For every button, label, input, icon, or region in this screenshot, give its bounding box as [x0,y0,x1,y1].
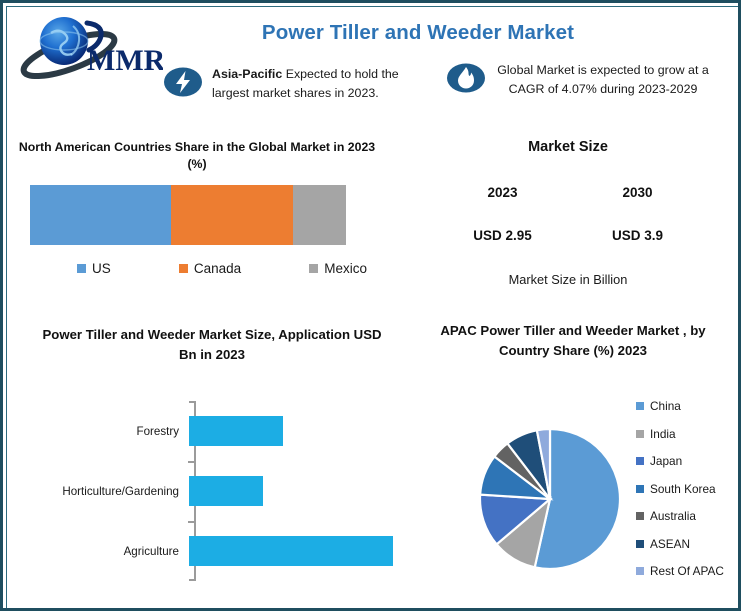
pie-legend-swatch-asean [636,540,644,548]
pie-legend-swatch-rest-of-apac [636,567,644,575]
stacked-segment-canada [171,185,293,245]
pie-legend-item-south-korea: South Korea [636,482,740,496]
pie-legend-item-rest-of-apac: Rest Of APAC [636,564,740,578]
fact-apac-lead: Asia-Pacific [212,67,282,81]
north-america-chart: North American Countries Share in the Gl… [17,139,377,294]
apac-pie-legend: ChinaIndiaJapanSouth KoreaAustraliaASEAN… [636,399,740,592]
axis-tick-1 [188,461,195,463]
pie-legend-label-asean: ASEAN [650,537,690,551]
market-size-panel: Market Size 2023 USD 2.95 2030 USD 3.9 M… [403,139,733,299]
pie-legend-label-japan: Japan [650,454,682,468]
fact-asia-pacific-text: Asia-Pacific Expected to hold the larges… [212,65,403,102]
fact-cagr-text: Global Market is expected to grow at a C… [495,61,711,98]
legend-item-canada: Canada [179,261,241,276]
market-size-value-2023: USD 2.95 [435,228,570,243]
mmr-logo-text: MMR [87,44,163,77]
pie-legend-item-asean: ASEAN [636,537,740,551]
market-size-year-2030: 2030 [570,185,705,200]
mmr-logo: MMR [17,13,163,79]
bar-label-forestry: Forestry [17,425,189,438]
pie-legend-swatch-south-korea [636,485,644,493]
market-size-column-2030: 2030 USD 3.9 [570,185,705,243]
pie-legend-label-rest-of-apac: Rest Of APAC [650,564,724,578]
legend-swatch-canada [179,264,188,273]
bar-row-horticulture: Horticulture/Gardening [17,471,407,511]
pie-legend-item-australia: Australia [636,509,740,523]
market-size-value-2030: USD 3.9 [570,228,705,243]
apac-pie-title: APAC Power Tiller and Weeder Market , by… [408,321,738,362]
legend-swatch-us [77,264,86,273]
pie-graphic [478,421,628,576]
market-size-footnote: Market Size in Billion [403,272,733,287]
legend-item-us: US [77,261,111,276]
legend-label-canada: Canada [194,261,241,276]
fact-asia-pacific: Asia-Pacific Expected to hold the larges… [163,65,403,102]
pie-svg [478,421,628,576]
pie-legend-swatch-japan [636,457,644,465]
bar-row-agriculture: Agriculture [17,531,407,571]
pie-legend-swatch-australia [636,512,644,520]
bar-horticulture [189,476,263,506]
application-plot-area: Forestry Horticulture/Gardening Agricult… [17,399,407,589]
pie-legend-label-india: India [650,427,676,441]
page-title: Power Tiller and Weeder Market [203,21,633,45]
legend-swatch-mexico [309,264,318,273]
pie-legend-label-china: China [650,399,681,413]
pie-legend-label-australia: Australia [650,509,696,523]
pie-legend-item-india: India [636,427,740,441]
application-bar-chart: Power Tiller and Weeder Market Size, App… [17,325,407,600]
north-america-chart-title: North American Countries Share in the Gl… [17,139,377,173]
application-chart-title: Power Tiller and Weeder Market Size, App… [17,325,407,366]
pie-legend-swatch-china [636,402,644,410]
apac-pie-chart: APAC Power Tiller and Weeder Market , by… [408,321,738,601]
infographic-root: MMR Power Tiller and Weeder Market Asia-… [0,0,741,611]
lightning-bolt-icon [163,66,203,98]
fact-cagr: Global Market is expected to grow at a C… [446,61,711,98]
pie-legend-item-japan: Japan [636,454,740,468]
flame-icon [446,62,486,94]
legend-item-mexico: Mexico [309,261,367,276]
market-size-heading: Market Size [403,139,733,155]
legend-label-mexico: Mexico [324,261,367,276]
bar-label-agriculture: Agriculture [17,545,189,558]
legend-label-us: US [92,261,111,276]
axis-tick-2 [188,521,195,523]
market-size-year-2023: 2023 [435,185,570,200]
bar-agriculture [189,536,393,566]
bar-forestry [189,416,283,446]
pie-legend-item-china: China [636,399,740,413]
market-size-column-2023: 2023 USD 2.95 [435,185,570,243]
axis-cap-top [189,401,196,403]
pie-legend-label-south-korea: South Korea [650,482,716,496]
stacked-bar [30,185,346,245]
market-size-columns: 2023 USD 2.95 2030 USD 3.9 [435,185,705,243]
stacked-segment-us [30,185,171,245]
bar-row-forestry: Forestry [17,411,407,451]
north-america-legend: US Canada Mexico [77,261,367,276]
pie-legend-swatch-india [636,430,644,438]
bar-label-horticulture: Horticulture/Gardening [17,485,189,498]
axis-cap-bottom [189,579,196,581]
stacked-segment-mexico [293,185,346,245]
